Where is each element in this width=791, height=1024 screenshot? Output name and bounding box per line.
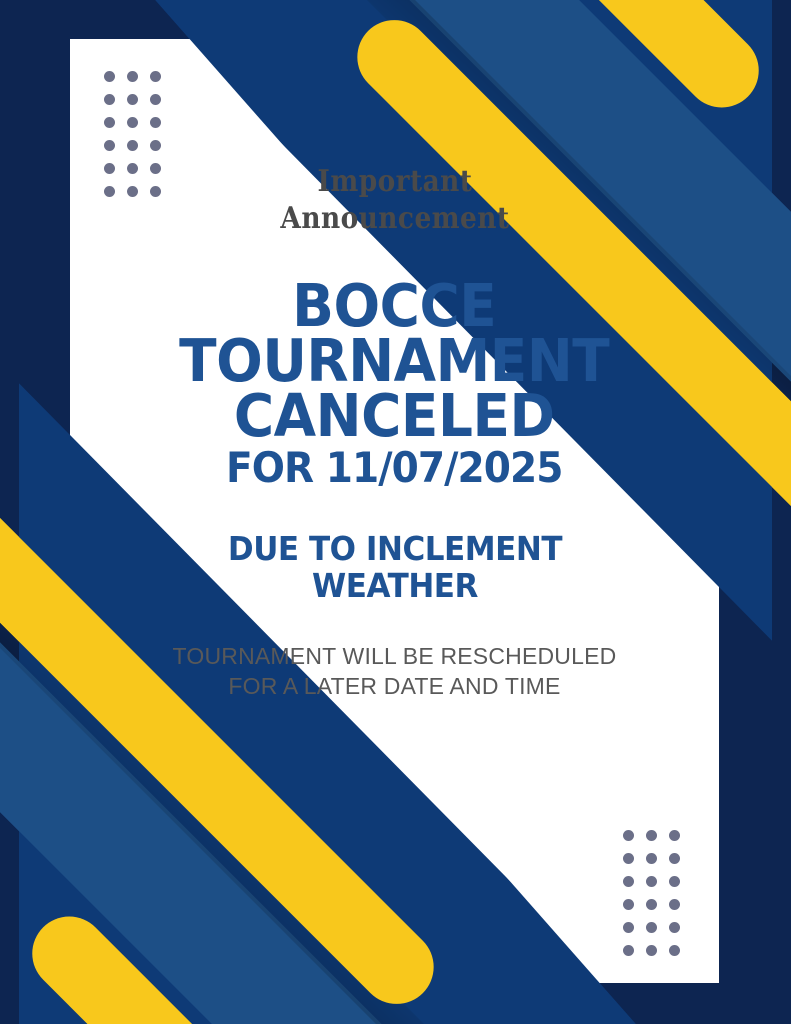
dot [127, 94, 138, 105]
dot [127, 163, 138, 174]
dot [150, 140, 161, 151]
dot [669, 922, 680, 933]
headline-block: BOCCE TOURNAMENT CANCELED FOR 11/07/2025 [179, 279, 609, 487]
headline-event-date: FOR 11/07/2025 [179, 448, 609, 487]
headline-line-3: CANCELED [179, 389, 609, 444]
dot [150, 117, 161, 128]
dot [623, 853, 634, 864]
dot [104, 117, 115, 128]
dot-grid-top-left [104, 71, 161, 197]
dot [127, 71, 138, 82]
dot [623, 922, 634, 933]
dot [669, 876, 680, 887]
announcement-eyebrow: Important Announcement [263, 164, 527, 237]
dot [623, 876, 634, 887]
dot [127, 140, 138, 151]
dot [646, 945, 657, 956]
dot [127, 117, 138, 128]
dot [127, 186, 138, 197]
dot [669, 853, 680, 864]
dot-grid-bottom-right [623, 830, 680, 956]
dot [104, 140, 115, 151]
reschedule-note: TOURNAMENT WILL BE RESCHEDULED FOR A LAT… [160, 641, 630, 702]
dot [623, 945, 634, 956]
dot [669, 899, 680, 910]
dot [150, 71, 161, 82]
dot [104, 94, 115, 105]
cancellation-reason: DUE TO INCLEMENT WEATHER [169, 531, 620, 605]
dot [646, 853, 657, 864]
announcement-poster: Important Announcement BOCCE TOURNAMENT … [0, 0, 791, 1024]
dot [646, 876, 657, 887]
dot [669, 945, 680, 956]
dot [104, 163, 115, 174]
dot [669, 830, 680, 841]
dot [646, 899, 657, 910]
dot [623, 830, 634, 841]
dot [646, 830, 657, 841]
dot [150, 94, 161, 105]
dot [150, 186, 161, 197]
dot [104, 71, 115, 82]
dot [646, 922, 657, 933]
dot [623, 899, 634, 910]
dot [150, 163, 161, 174]
dot [104, 186, 115, 197]
